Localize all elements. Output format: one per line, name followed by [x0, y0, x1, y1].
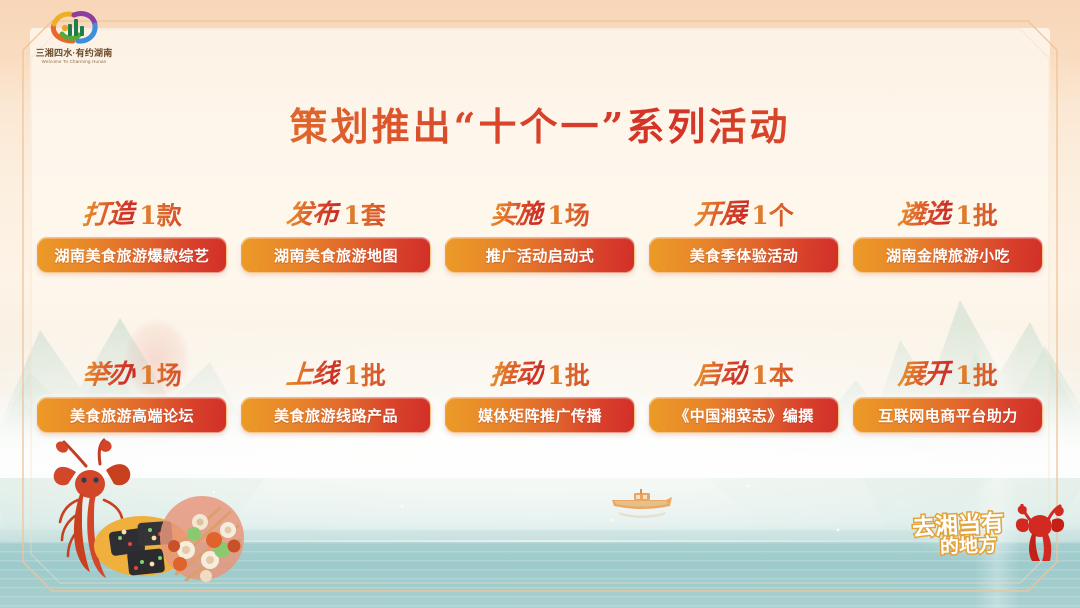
activity-pill[interactable]: 《中国湘菜志》编撰: [649, 397, 839, 433]
activity-verb: 遴选: [897, 200, 953, 229]
slide-canvas: 三湘四水·有约湖南 Welcome To Charming Hunan 策划推出…: [0, 0, 1080, 608]
page-title: 策划推出“十个一”系列活动: [0, 96, 1080, 151]
activity-item[interactable]: 推动 1批 媒体矩阵推广传播: [442, 342, 638, 436]
activity-pill[interactable]: 美食季体验活动: [649, 237, 839, 273]
activity-count: 1个: [751, 203, 793, 228]
activity-count: 1批: [547, 363, 589, 388]
activity-row-1: 打造 1款 湖南美食旅游爆款综艺 发布 1套 湖南美食旅游地图: [34, 182, 1046, 276]
activity-pill-wrap: 推广活动启动式: [442, 234, 638, 276]
activity-count: 1批: [343, 363, 385, 388]
hunan-tourism-logo: 三湘四水·有约湖南 Welcome To Charming Hunan: [18, 8, 130, 70]
activity-count: 1批: [955, 203, 997, 228]
activity-label: 美食旅游线路产品: [274, 405, 398, 426]
activity-heading: 举办 1场: [34, 342, 230, 388]
activity-pill-wrap: 互联网电商平台助力: [850, 394, 1046, 436]
logo-en-text: Welcome To Charming Hunan: [20, 59, 128, 64]
activity-count: 1套: [343, 203, 385, 228]
activity-item[interactable]: 启动 1本 《中国湘菜志》编撰: [646, 342, 842, 436]
logo-cn-text: 三湘四水·有约湖南: [18, 48, 130, 59]
logo-swirl-icon: [44, 8, 102, 48]
activity-verb: 上线: [285, 360, 341, 389]
activity-verb: 启动: [693, 360, 749, 389]
activity-grid: 打造 1款 湖南美食旅游爆款综艺 发布 1套 湖南美食旅游地图: [34, 182, 1046, 436]
activity-heading: 发布 1套: [238, 182, 434, 228]
activity-label: 湖南金牌旅游小吃: [886, 245, 1010, 266]
activity-heading: 打造 1款: [34, 182, 230, 228]
activity-pill-wrap: 湖南美食旅游地图: [238, 234, 434, 276]
activity-pill-wrap: 美食旅游线路产品: [238, 394, 434, 436]
activity-pill[interactable]: 美食旅游高端论坛: [37, 397, 227, 433]
activity-pill[interactable]: 湖南金牌旅游小吃: [853, 237, 1043, 273]
activity-verb: 发布: [285, 200, 341, 229]
activity-count: 1本: [751, 363, 793, 388]
activity-label: 美食旅游高端论坛: [70, 405, 194, 426]
activity-heading: 开展 1个: [646, 182, 842, 228]
crayfish-icon: [1014, 504, 1066, 562]
activity-label: 互联网电商平台助力: [878, 405, 1018, 426]
activity-pill-wrap: 湖南金牌旅游小吃: [850, 234, 1046, 276]
activity-pill[interactable]: 推广活动启动式: [445, 237, 635, 273]
activity-heading: 推动 1批: [442, 342, 638, 388]
activity-pill[interactable]: 媒体矩阵推广传播: [445, 397, 635, 433]
activity-heading: 遴选 1批: [850, 182, 1046, 228]
activity-verb: 展开: [897, 360, 953, 389]
activity-pill-wrap: 媒体矩阵推广传播: [442, 394, 638, 436]
activity-label: 媒体矩阵推广传播: [478, 405, 602, 426]
activity-count: 1批: [955, 363, 997, 388]
activity-label: 推广活动启动式: [486, 245, 595, 266]
activity-label: 湖南美食旅游地图: [274, 245, 398, 266]
fishing-boat-icon: [610, 488, 676, 522]
activity-item[interactable]: 实施 1场 推广活动启动式: [442, 182, 638, 276]
activity-label: 《中国湘菜志》编撰: [674, 405, 814, 426]
activity-heading: 展开 1批: [850, 342, 1046, 388]
activity-verb: 开展: [693, 200, 749, 229]
activity-label: 湖南美食旅游爆款综艺: [54, 245, 209, 266]
activity-pill[interactable]: 湖南美食旅游地图: [241, 237, 431, 273]
campaign-brand-lockup: 去湘当有 的地方: [910, 500, 1066, 572]
activity-item[interactable]: 展开 1批 互联网电商平台助力: [850, 342, 1046, 436]
activity-verb: 实施: [489, 200, 545, 229]
activity-item[interactable]: 举办 1场 美食旅游高端论坛: [34, 342, 230, 436]
activity-label: 美食季体验活动: [690, 245, 799, 266]
activity-verb: 打造: [81, 200, 137, 229]
activity-count: 1款: [139, 203, 181, 228]
activity-pill[interactable]: 互联网电商平台助力: [853, 397, 1043, 433]
brand-line-2: 的地方: [940, 530, 998, 559]
activity-count: 1场: [139, 363, 181, 388]
activity-pill-wrap: 湖南美食旅游爆款综艺: [34, 234, 230, 276]
activity-verb: 举办: [81, 360, 137, 389]
activity-item[interactable]: 打造 1款 湖南美食旅游爆款综艺: [34, 182, 230, 276]
activity-heading: 实施 1场: [442, 182, 638, 228]
activity-heading: 启动 1本: [646, 342, 842, 388]
activity-pill-wrap: 《中国湘菜志》编撰: [646, 394, 842, 436]
activity-item[interactable]: 遴选 1批 湖南金牌旅游小吃: [850, 182, 1046, 276]
activity-count: 1场: [547, 203, 589, 228]
activity-pill-wrap: 美食季体验活动: [646, 234, 842, 276]
activity-item[interactable]: 发布 1套 湖南美食旅游地图: [238, 182, 434, 276]
activity-item[interactable]: 上线 1批 美食旅游线路产品: [238, 342, 434, 436]
activity-pill[interactable]: 美食旅游线路产品: [241, 397, 431, 433]
activity-pill-wrap: 美食旅游高端论坛: [34, 394, 230, 436]
activity-heading: 上线 1批: [238, 342, 434, 388]
activity-pill[interactable]: 湖南美食旅游爆款综艺: [37, 237, 227, 273]
food-illustration: [24, 438, 254, 588]
activity-verb: 推动: [489, 360, 545, 389]
activity-item[interactable]: 开展 1个 美食季体验活动: [646, 182, 842, 276]
activity-row-2: 举办 1场 美食旅游高端论坛 上线 1批 美食旅游线路产品: [34, 342, 1046, 436]
